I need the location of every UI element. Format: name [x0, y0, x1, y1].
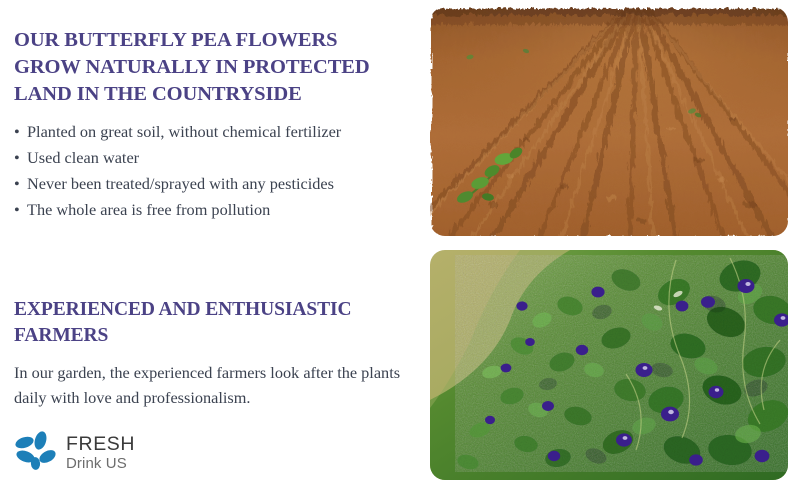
list-item-label: The whole area is free from pollution	[27, 200, 270, 219]
brand-name: FRESH	[66, 435, 135, 455]
list-item: • Never been treated/sprayed with any pe…	[14, 173, 422, 196]
bullet-icon: •	[14, 173, 20, 196]
section-paragraph-farmers: In our garden, the experienced farmers l…	[14, 360, 418, 410]
heading-line: OUR BUTTERFLY PEA FLOWERS	[14, 29, 337, 51]
feature-list: • Planted on great soil, without chemica…	[14, 121, 422, 222]
bullet-icon: •	[14, 147, 20, 170]
heading-line: LAND IN THE COUNTRYSIDE	[14, 83, 302, 105]
section-heading-farmers: EXPERIENCED AND ENTHUSIASTIC FARMERS	[14, 297, 422, 349]
bullet-icon: •	[14, 199, 20, 222]
list-item: • Planted on great soil, without chemica…	[14, 121, 422, 144]
butterfly-pea-vines-photo	[430, 250, 788, 480]
brand-logo[interactable]: FRESH Drink US	[14, 431, 135, 475]
image-column	[430, 0, 800, 494]
list-item-label: Planted on great soil, without chemical …	[27, 122, 341, 141]
promo-page: OUR BUTTERFLY PEA FLOWERS GROW NATURALLY…	[0, 0, 800, 494]
list-item: • The whole area is free from pollution	[14, 199, 422, 222]
list-item-label: Never been treated/sprayed with any pest…	[27, 174, 334, 193]
heading-line: FARMERS	[14, 325, 108, 346]
text-column: OUR BUTTERFLY PEA FLOWERS GROW NATURALLY…	[0, 0, 430, 494]
list-item-label: Used clean water	[27, 148, 139, 167]
heading-line: EXPERIENCED AND ENTHUSIASTIC	[14, 299, 351, 320]
section-growing-conditions: OUR BUTTERFLY PEA FLOWERS GROW NATURALLY…	[14, 27, 422, 225]
plowed-soil-field-photo	[430, 7, 788, 236]
section-heading-growing-conditions: OUR BUTTERFLY PEA FLOWERS GROW NATURALLY…	[14, 27, 422, 108]
list-item: • Used clean water	[14, 147, 422, 170]
heading-line: GROW NATURALLY IN PROTECTED	[14, 56, 370, 78]
leaf-cluster-icon	[14, 431, 60, 475]
brand-tagline: Drink US	[66, 456, 135, 471]
bullet-icon: •	[14, 121, 20, 144]
section-farmers: EXPERIENCED AND ENTHUSIASTIC FARMERS In …	[14, 297, 422, 410]
brand-wordmark: FRESH Drink US	[66, 435, 135, 472]
